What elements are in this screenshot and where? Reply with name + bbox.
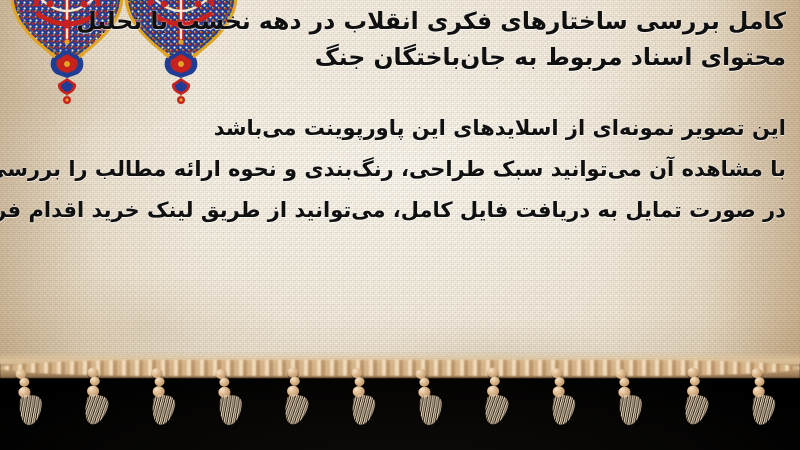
fringe-knot (554, 377, 564, 386)
title-line-2: محتوای اسناد مربوط به جان‌باختگان جنگ (76, 39, 786, 75)
fringe-tassel-skirt (682, 393, 711, 427)
fringe-tassel-skirt (350, 393, 376, 426)
fringe-tassel (551, 368, 578, 446)
fringe-knot (354, 377, 364, 386)
fringe-tassel (751, 368, 778, 446)
fringe-tassel-skirt (750, 393, 776, 426)
fringe-tassel-skirt (218, 394, 242, 425)
fringe-tassel-skirt (482, 393, 511, 427)
fringe-tassel (283, 367, 314, 447)
body-line-1: این تصویر نمونه‌ای از اسلایدهای این پاور… (0, 108, 786, 149)
fringe-tassel (151, 368, 178, 446)
slide-body: این تصویر نمونه‌ای از اسلایدهای این پاور… (0, 108, 786, 231)
fringe-tassel-row (0, 368, 800, 448)
fringe-knot (154, 377, 164, 386)
fringe-tassel-skirt (418, 394, 442, 425)
fringe-knot (754, 377, 764, 386)
fringe-tassel-skirt (618, 394, 642, 425)
fringe-tassel (415, 367, 449, 447)
presentation-slide: کامل بررسی ساختارهای فکری انقلاب در دهه … (0, 0, 800, 450)
fringe-tassel-skirt (82, 393, 111, 427)
title-line-1: کامل بررسی ساختارهای فکری انقلاب در دهه … (76, 3, 786, 39)
fringe-tassel-skirt (150, 393, 176, 426)
fringe-tassel (483, 367, 514, 447)
fringe-tassel-skirt (18, 394, 42, 425)
fringe-tassel (351, 368, 378, 446)
fringe-tassel (215, 367, 249, 447)
body-line-2: با مشاهده آن می‌توانید سبک طراحی، رنگ‌بن… (0, 149, 786, 190)
fringe-tassel-skirt (282, 393, 311, 427)
carpet-fringe-band (0, 364, 800, 450)
slide-title: کامل بررسی ساختارهای فکری انقلاب در دهه … (76, 3, 786, 75)
fringe-tassel (83, 367, 114, 447)
fringe-tassel (15, 367, 49, 447)
body-line-3: در صورت تمایل به دریافت فایل کامل، می‌تو… (0, 190, 786, 231)
fringe-tassel (683, 367, 714, 447)
fringe-tassel (615, 367, 649, 447)
fringe-tassel-skirt (550, 393, 576, 426)
